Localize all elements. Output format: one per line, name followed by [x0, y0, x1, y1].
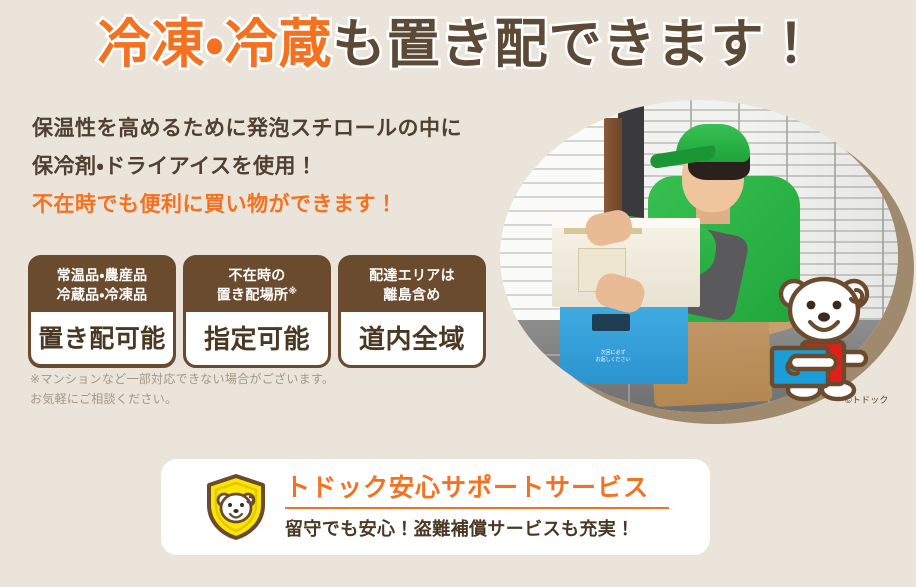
asterisk-mark: ※ [288, 286, 297, 296]
crate-handle-slot [592, 314, 630, 331]
feature-box-header: 常温品・農産品 冷蔵品・冷凍品 [31, 258, 173, 312]
feature-head-line-1: 常温品・農産品 [33, 266, 171, 285]
support-title: トドック安心サポートサービス [285, 474, 710, 502]
page-title: 冷凍・冷蔵も置き配できます！ [0, 14, 916, 77]
support-service-banner[interactable]: トドック安心サポートサービス 留守でも安心！盗難補償サービスも充実！ [161, 459, 710, 555]
support-divider [285, 507, 669, 509]
feature-head-line-2: 置き配場所※ [188, 285, 326, 305]
footnote: ※マンションなど一部対応できない場合がございます。 お気軽にご相談ください。 [30, 370, 334, 410]
bear-mascot-icon [768, 268, 888, 408]
feature-box-header: 不在時の 置き配場所※ [186, 258, 328, 312]
feature-head-line-2: 離島含め [343, 285, 481, 305]
feature-box-okihai: 常温品・農産品 冷蔵品・冷凍品 置き配可能 [28, 255, 176, 368]
footnote-line-1: ※マンションなど一部対応できない場合がございます。 [30, 370, 334, 390]
feature-head-line-2: 冷蔵品・冷凍品 [33, 285, 171, 305]
headline-rest: も置き配できます！ [333, 15, 819, 74]
feature-box-header: 配達エリアは 離島含め [341, 258, 483, 312]
body-copy: 保温性を高めるために発泡スチロールの中に 保冷剤・ドライアイスを使用！ 不在時で… [32, 110, 482, 225]
body-line-2: 保冷剤・ドライアイスを使用！ [32, 148, 482, 186]
support-subtitle: 留守でも安心！盗難補償サービスも充実！ [285, 515, 710, 541]
feature-box-area: 配達エリアは 離島含め 道内全域 [338, 255, 486, 368]
footnote-line-2: お気軽にご相談ください。 [30, 390, 334, 410]
feature-box-value: 道内全域 [341, 312, 483, 365]
banner-stage: 冷凍・冷蔵も置き配できます！ 保温性を高めるために発泡スチロールの中に 保冷剤・… [0, 0, 916, 587]
support-text-block: トドック安心サポートサービス 留守でも安心！盗難補償サービスも充実！ [285, 474, 710, 541]
feature-box-value: 指定可能 [186, 312, 328, 365]
feature-head-line-1: 不在時の [188, 266, 326, 285]
crate-label-text: 次回に必ずお返しください [578, 350, 648, 363]
mascot-copyright: ©トドック [845, 393, 889, 406]
todock-bear-mascot [768, 268, 888, 408]
feature-box-value: 置き配可能 [31, 312, 173, 364]
body-line-1: 保温性を高めるために発泡スチロールの中に [32, 110, 482, 148]
feature-box-location: 不在時の 置き配場所※ 指定可能 [183, 255, 331, 368]
headline-accent: 冷凍・冷蔵 [97, 15, 332, 74]
feature-head-line-1: 配達エリアは [343, 266, 481, 285]
feature-box-row: 常温品・農産品 冷蔵品・冷凍品 置き配可能 不在時の 置き配場所※ 指定可能 配… [28, 255, 486, 368]
body-line-3-accent: 不在時でも便利に買い物ができます！ [32, 186, 482, 224]
shield-bear-icon [205, 473, 267, 541]
